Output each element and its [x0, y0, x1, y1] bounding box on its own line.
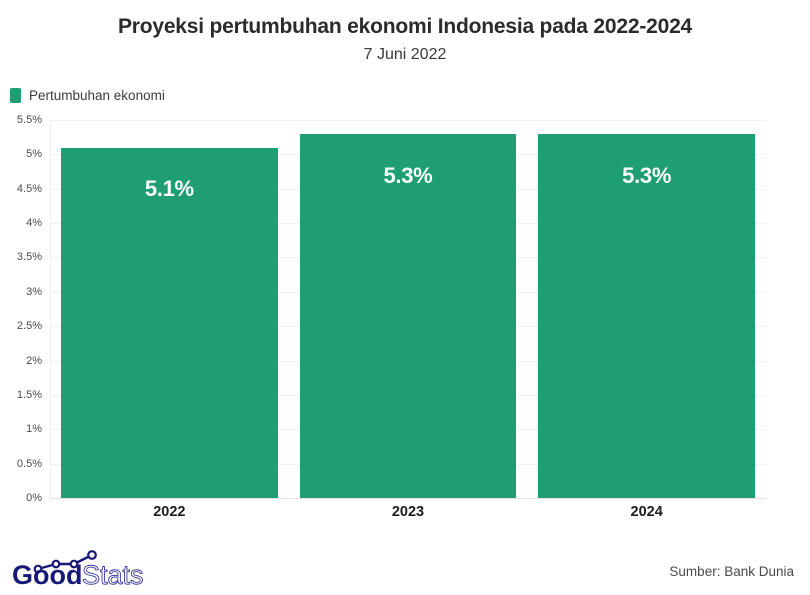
x-axis-tick-label: 2023 [289, 504, 528, 520]
y-axis: 0%0.5%1%1.5%2%2.5%3%3.5%4%4.5%5%5.5% [0, 120, 46, 498]
x-axis-tick-label: 2022 [50, 504, 289, 520]
y-axis-tick-label: 0% [26, 492, 42, 504]
goodstats-logo: Good Stats [12, 550, 192, 590]
logo-text-stats: Stats [82, 560, 144, 590]
bar-value-label: 5.3% [300, 163, 517, 189]
y-axis-tick-label: 5% [26, 148, 42, 160]
chart-plot-area: 0%0.5%1%1.5%2%2.5%3%3.5%4%4.5%5%5.5% 5.1… [0, 120, 810, 510]
y-axis-tick-label: 5.5% [17, 114, 42, 126]
chart-legend: Pertumbuhan ekonomi [10, 86, 165, 104]
goodstats-logo-svg: Good Stats [12, 550, 192, 590]
y-axis-tick-label: 2% [26, 355, 42, 367]
y-axis-tick-label: 1% [26, 423, 42, 435]
y-axis-tick-label: 3% [26, 286, 42, 298]
page-title: Proyeksi pertumbuhan ekonomi Indonesia p… [0, 0, 810, 40]
chart-footer: Good Stats Sumber: Bank Dunia [0, 548, 810, 590]
y-axis-tick-label: 4% [26, 217, 42, 229]
y-axis-tick-label: 0.5% [17, 458, 42, 470]
bar-value-label: 5.3% [538, 163, 755, 189]
bar-column[interactable]: 5.3% [300, 120, 517, 498]
bar-column[interactable]: 5.1% [61, 120, 278, 498]
y-axis-tick-label: 1.5% [17, 389, 42, 401]
logo-text-good: Good [12, 560, 82, 590]
x-axis-tick-label: 2024 [527, 504, 766, 520]
bar-column[interactable]: 5.3% [538, 120, 755, 498]
y-axis-tick-label: 3.5% [17, 251, 42, 263]
x-axis: 202220232024 [50, 504, 766, 530]
chart-subtitle: 7 Juni 2022 [0, 40, 810, 65]
legend-item-label: Pertumbuhan ekonomi [29, 88, 165, 103]
chart-header: Proyeksi pertumbuhan ekonomi Indonesia p… [0, 0, 810, 65]
y-axis-tick-label: 2.5% [17, 320, 42, 332]
y-axis-tick-label: 4.5% [17, 183, 42, 195]
legend-swatch-icon [10, 88, 21, 103]
gridline [50, 498, 766, 499]
bar-value-label: 5.1% [61, 176, 278, 202]
source-note: Sumber: Bank Dunia [669, 564, 794, 579]
bar-series: 5.1%5.3%5.3% [50, 120, 766, 498]
